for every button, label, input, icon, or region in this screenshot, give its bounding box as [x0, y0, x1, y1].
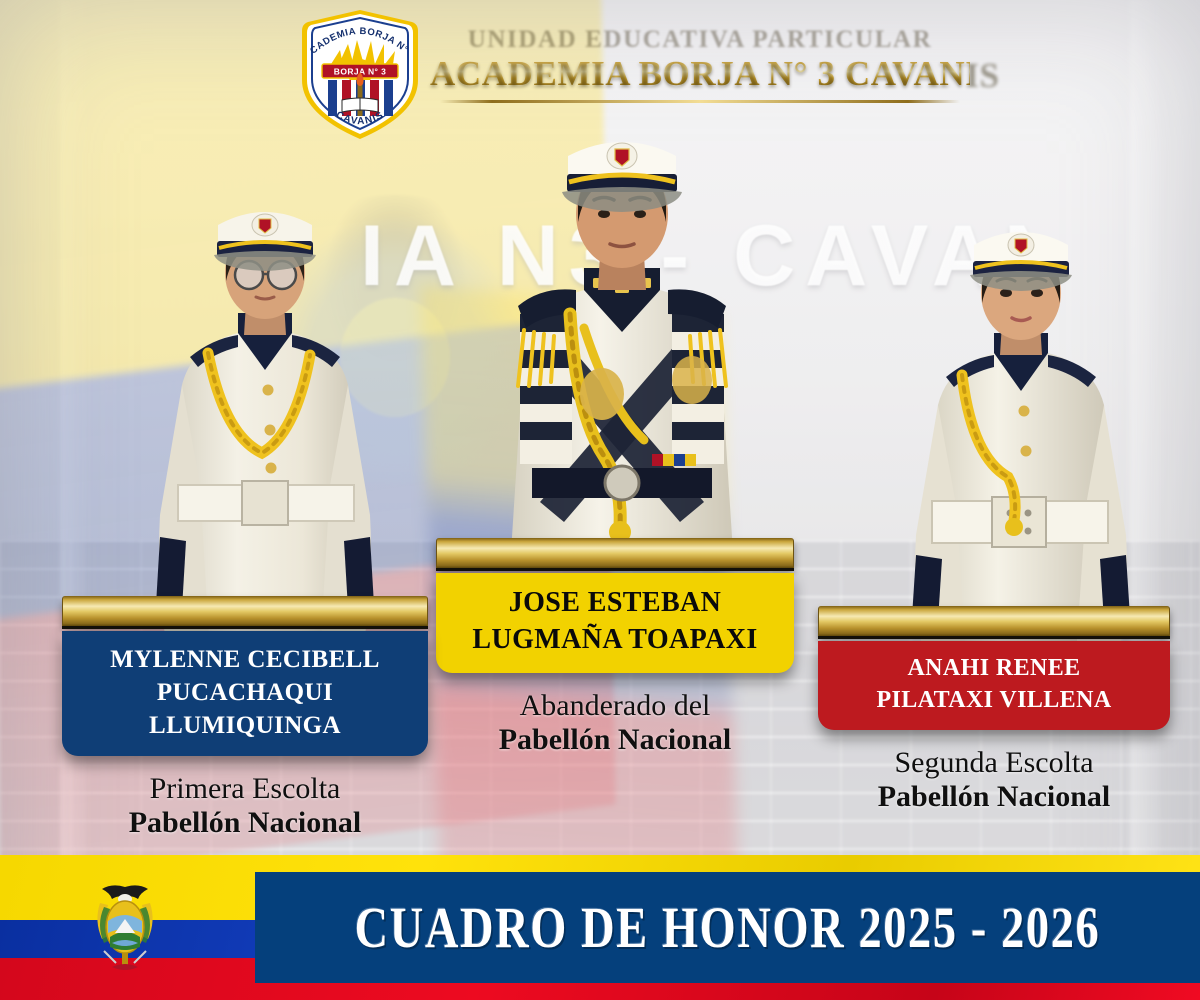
- footer-title-bar: CUADRO DE HONOR 2025 - 2026: [255, 872, 1200, 983]
- student-role-line2: Pabellón Nacional: [62, 806, 428, 840]
- student-role-line1: Primera Escolta: [62, 772, 428, 806]
- title-gold-rule: [440, 100, 960, 103]
- plaque-gold-bar: [818, 606, 1170, 636]
- student-role: Abanderado del Pabellón Nacional: [436, 689, 794, 756]
- honor-roll-poster: IA N3 - CAVANIS ACADEMIA BORJA N° 3: [0, 0, 1200, 1000]
- plaque-gold-bar: [436, 538, 794, 568]
- student-role-line2: Pabellón Nacional: [436, 723, 794, 757]
- student-photo-primera-escolta: [120, 185, 410, 655]
- school-logo: ACADEMIA BORJA N° 3 BORJA N° 3: [298, 8, 422, 140]
- name-card-abanderado: JOSE ESTEBAN LUGMAÑA TOAPAXI Abanderado …: [436, 538, 794, 756]
- poster-header: ACADEMIA BORJA N° 3 BORJA N° 3: [0, 0, 1200, 132]
- student-name-line1: JOSE ESTEBAN: [446, 585, 784, 622]
- plaque-body: JOSE ESTEBAN LUGMAÑA TOAPAXI: [436, 573, 794, 673]
- plaque-body: ANAHI RENEE PILATAXI VILLENA: [818, 641, 1170, 730]
- student-name-line1: MYLENNE CECIBELL: [72, 643, 418, 676]
- name-card-primera-escolta: MYLENNE CECIBELL PUCACHAQUI LLUMIQUINGA …: [62, 596, 428, 839]
- school-title: UNIDAD EDUCATIVA PARTICULAR ACADEMIA BOR…: [430, 24, 970, 103]
- student-role: Primera Escolta Pabellón Nacional: [62, 772, 428, 839]
- plaque-gold-bar: [62, 596, 428, 626]
- poster-footer: CUADRO DE HONOR 2025 - 2026: [0, 855, 1200, 1000]
- ecuador-coat-of-arms: [82, 881, 168, 977]
- student-photo-segunda-escolta: [880, 205, 1160, 655]
- student-name-line2: PUCACHAQUI LLUMIQUINGA: [72, 676, 418, 742]
- student-role: Segunda Escolta Pabellón Nacional: [818, 746, 1170, 813]
- student-photo-abanderado: [472, 118, 772, 568]
- student-role-line2: Pabellón Nacional: [818, 780, 1170, 814]
- student-role-line1: Segunda Escolta: [818, 746, 1170, 780]
- school-title-line2: ACADEMIA BORJA N° 3 CAVANIS: [430, 54, 970, 94]
- school-title-line1: UNIDAD EDUCATIVA PARTICULAR: [430, 24, 970, 52]
- name-card-segunda-escolta: ANAHI RENEE PILATAXI VILLENA Segunda Esc…: [818, 606, 1170, 814]
- footer-title: CUADRO DE HONOR 2025 - 2026: [350, 872, 1106, 983]
- student-name-line2: LUGMAÑA TOAPAXI: [446, 622, 784, 659]
- student-name-line2: PILATAXI VILLENA: [828, 685, 1160, 717]
- student-role-line1: Abanderado del: [436, 689, 794, 723]
- plaque-body: MYLENNE CECIBELL PUCACHAQUI LLUMIQUINGA: [62, 631, 428, 756]
- student-name-line1: ANAHI RENEE: [828, 653, 1160, 685]
